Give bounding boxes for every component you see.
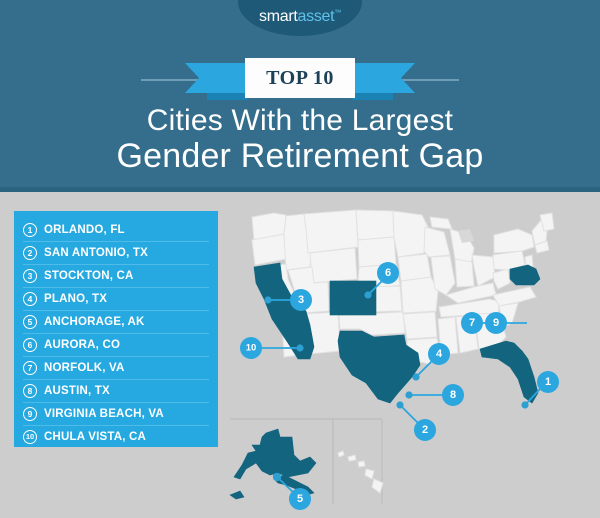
marker-label-10: 10 (246, 343, 257, 354)
ribbon-wing-left (185, 63, 253, 93)
city-label-10: CHULA VISTA, CA (44, 431, 146, 443)
rank-badge-9: 9 (23, 407, 37, 421)
map-marker-5[interactable]: 5 (273, 473, 311, 510)
rank-badge-8: 8 (23, 384, 37, 398)
list-item[interactable]: 9 VIRGINIA BEACH, VA (23, 403, 209, 426)
list-item[interactable]: 8 AUSTIN, TX (23, 380, 209, 403)
city-label-5: ANCHORAGE, AK (44, 316, 145, 328)
header-banner: smartasset™ TOP 10 Cities With the Large… (0, 0, 600, 192)
marker-label-4: 4 (436, 348, 443, 360)
map-marker-8[interactable]: 8 (405, 384, 464, 406)
ribbon-center-box: TOP 10 (245, 58, 355, 98)
ribbon-rule-right (402, 79, 459, 81)
rank-badge-4: 4 (23, 292, 37, 306)
list-item[interactable]: 6 AURORA, CO (23, 334, 209, 357)
us-map: 3 10 6 4 (222, 207, 596, 512)
city-label-9: VIRGINIA BEACH, VA (44, 408, 164, 420)
city-label-2: SAN ANTONIO, TX (44, 247, 148, 259)
state-hawaii (338, 451, 383, 493)
city-label-8: AUSTIN, TX (44, 385, 110, 397)
page-title-line2: Gender Retirement Gap (0, 137, 600, 176)
ribbon-rule-left (141, 79, 198, 81)
state-alaska (234, 429, 316, 479)
list-item[interactable]: 10 CHULA VISTA, CA (23, 426, 209, 448)
ribbon-wing-right (347, 63, 415, 93)
marker-label-3: 3 (298, 294, 304, 306)
list-item[interactable]: 4 PLANO, TX (23, 288, 209, 311)
marker-label-9: 9 (493, 317, 499, 329)
city-label-4: PLANO, TX (44, 293, 107, 305)
logo-trademark-icon: ™ (334, 10, 341, 17)
infographic-root: smartasset™ TOP 10 Cities With the Large… (0, 0, 600, 518)
marker-label-7: 7 (469, 317, 475, 329)
state-virginia (510, 265, 540, 285)
list-item[interactable]: 3 STOCKTON, CA (23, 265, 209, 288)
rank-badge-7: 7 (23, 361, 37, 375)
us-map-svg: 3 10 6 4 (222, 207, 596, 512)
rank-badge-3: 3 (23, 269, 37, 283)
city-label-7: NORFOLK, VA (44, 362, 125, 374)
header-bottom-edge (0, 187, 600, 192)
top10-city-list: 1 ORLANDO, FL 2 SAN ANTONIO, TX 3 STOCKT… (14, 211, 218, 447)
state-florida (480, 341, 538, 403)
rank-badge-1: 1 (23, 223, 37, 237)
top10-ribbon: TOP 10 (0, 58, 600, 102)
list-item[interactable]: 5 ANCHORAGE, AK (23, 311, 209, 334)
marker-label-1: 1 (545, 376, 551, 388)
city-label-1: ORLANDO, FL (44, 224, 125, 236)
smartasset-logo-badge[interactable]: smartasset™ (238, 0, 362, 36)
page-title-line1: Cities With the Largest (0, 104, 600, 138)
logo-primary-text: smart (259, 8, 298, 25)
rank-badge-2: 2 (23, 246, 37, 260)
list-item[interactable]: 2 SAN ANTONIO, TX (23, 242, 209, 265)
marker-label-5: 5 (297, 493, 303, 505)
smartasset-logo-text: smartasset™ (238, 8, 362, 26)
list-item[interactable]: 7 NORFOLK, VA (23, 357, 209, 380)
list-item[interactable]: 1 ORLANDO, FL (23, 219, 209, 242)
city-label-3: STOCKTON, CA (44, 270, 134, 282)
map-marker-9[interactable]: 9 (485, 312, 507, 334)
city-label-6: AURORA, CO (44, 339, 120, 351)
marker-label-2: 2 (422, 424, 428, 436)
marker-label-6: 6 (385, 267, 391, 279)
logo-secondary-text: asset (298, 8, 335, 25)
rank-badge-6: 6 (23, 338, 37, 352)
rank-badge-5: 5 (23, 315, 37, 329)
map-marker-2[interactable]: 2 (396, 401, 436, 441)
marker-label-8: 8 (450, 389, 456, 401)
ribbon-label: TOP 10 (266, 67, 334, 90)
rank-badge-10: 10 (23, 430, 37, 444)
